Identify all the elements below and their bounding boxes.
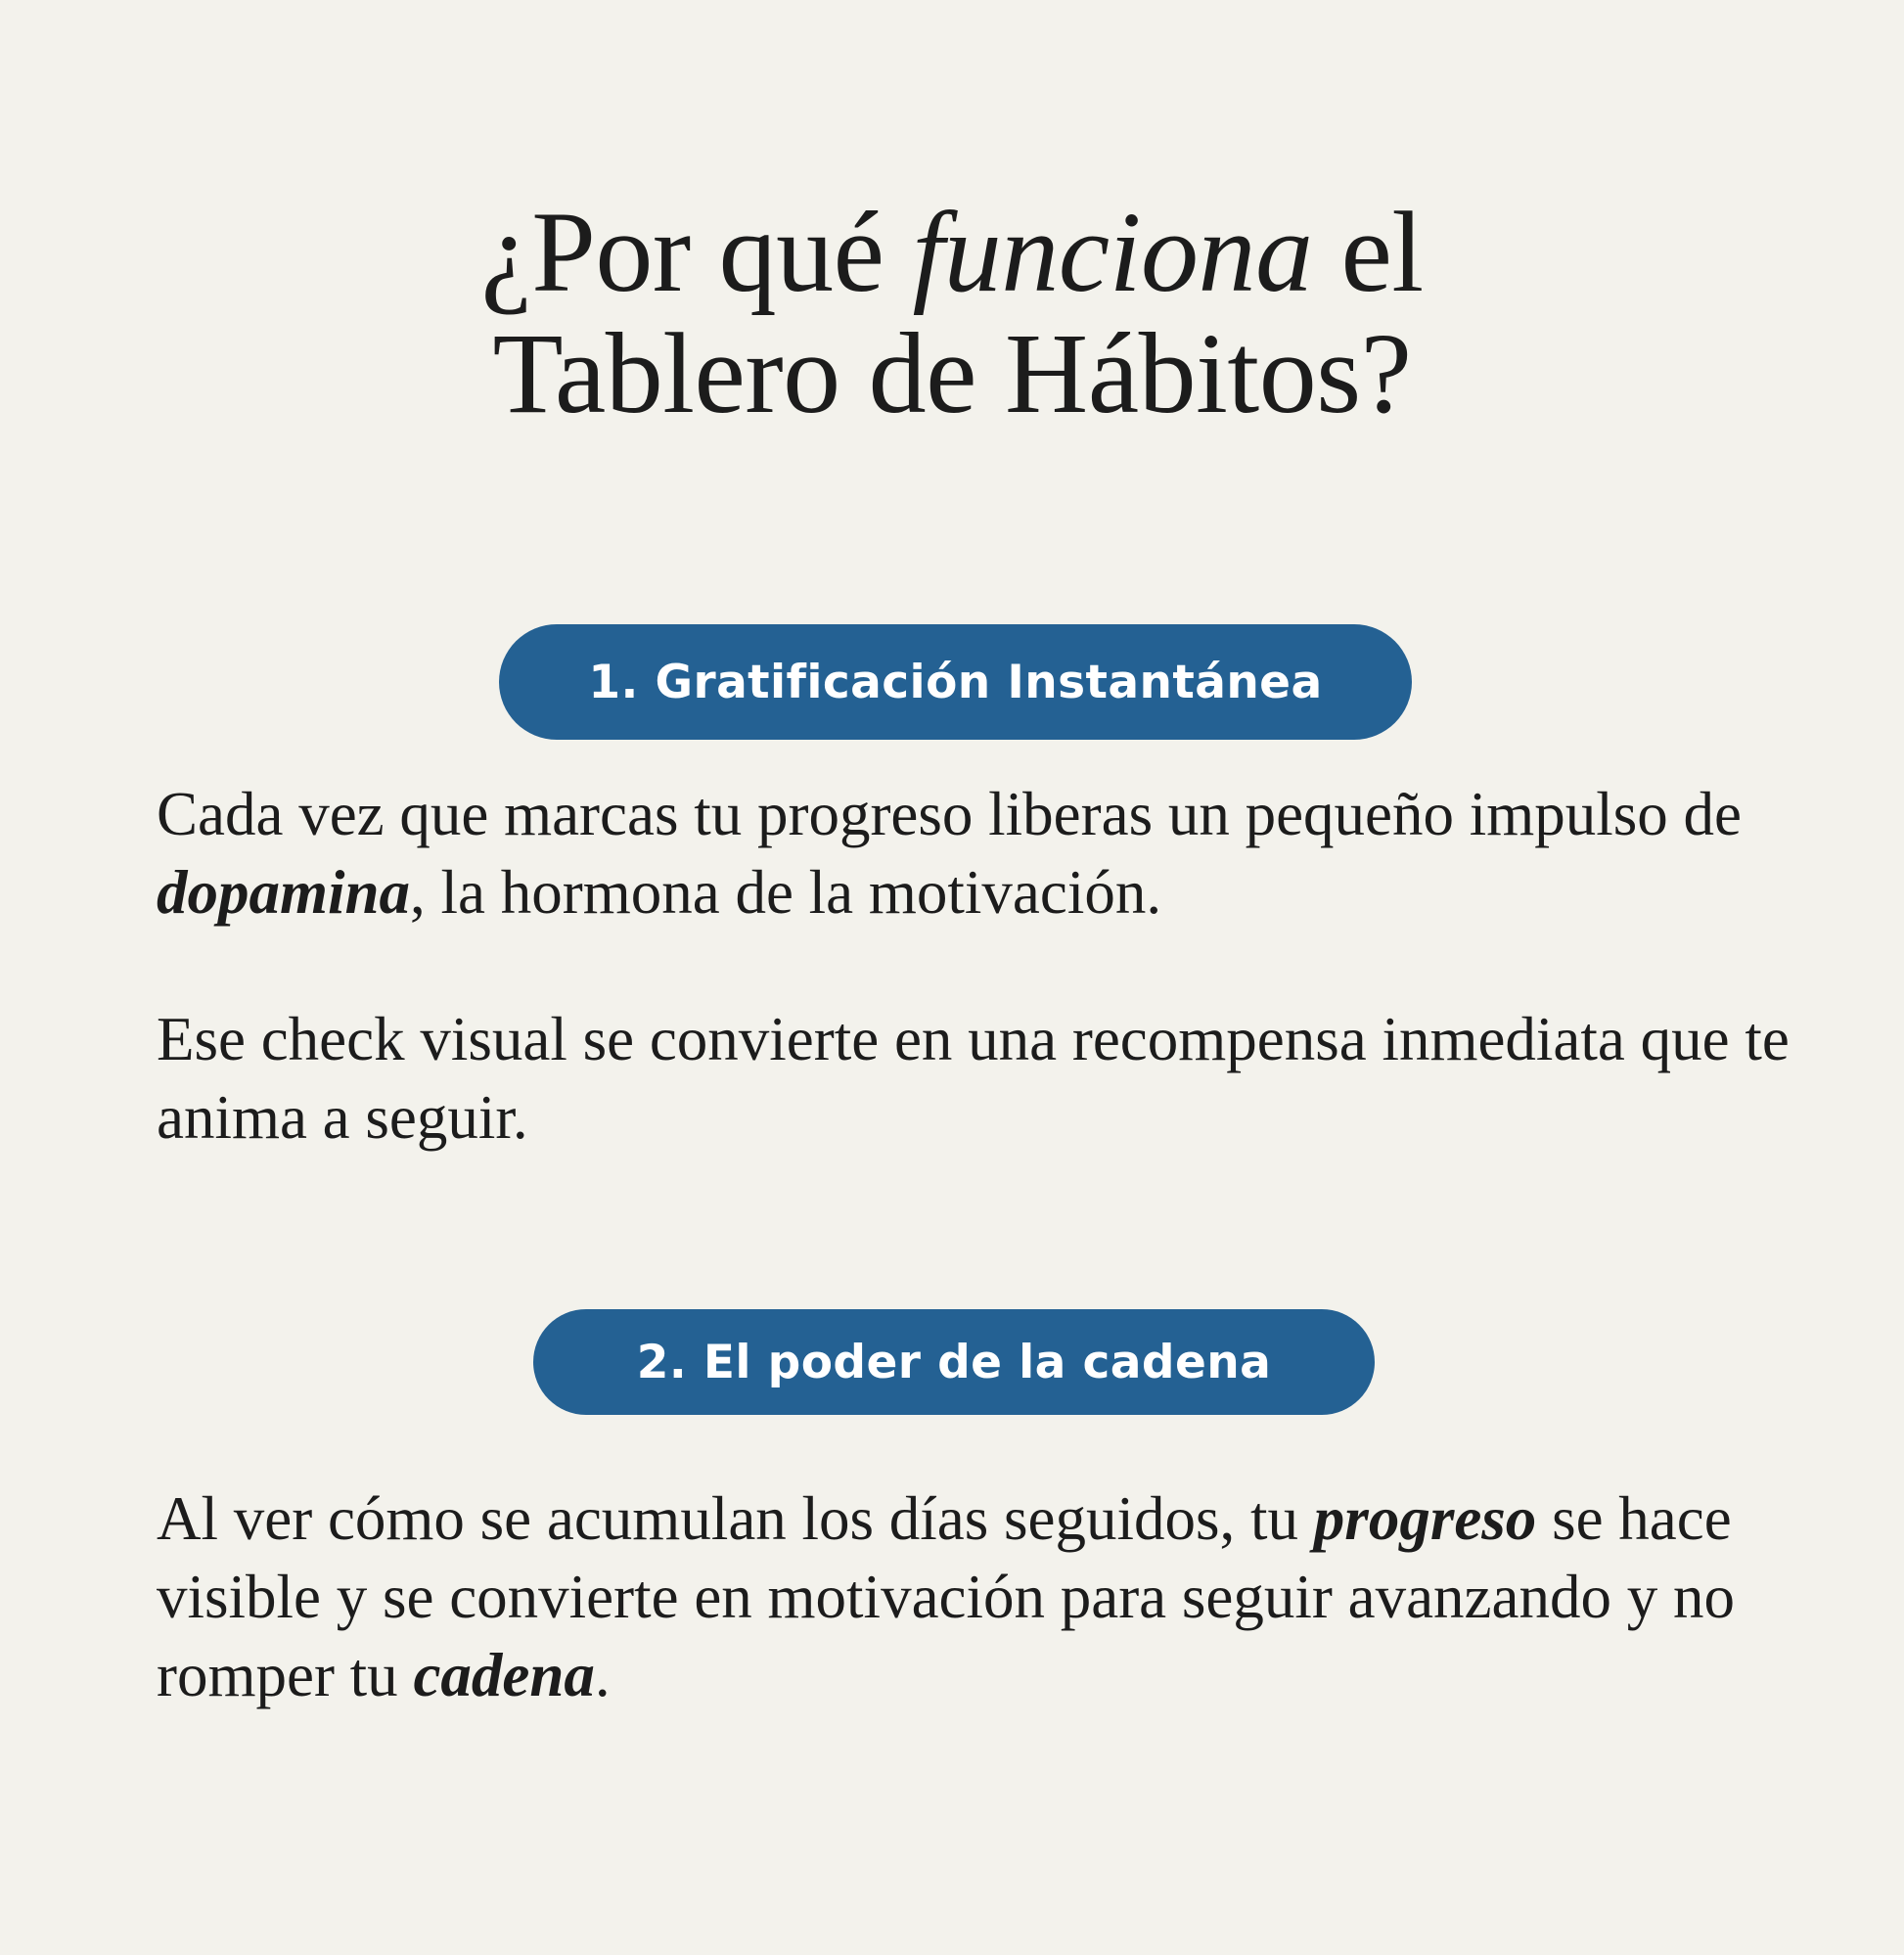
section-2-paragraph-1: Al ver cómo se acumulan los días seguido…: [157, 1479, 1859, 1714]
section-badge-2[interactable]: 2. El poder de la cadena: [533, 1309, 1375, 1415]
title-text-pre: ¿Por qué: [480, 188, 912, 316]
title-emphasis-funciona: funciona: [913, 188, 1313, 316]
title-text-post: el: [1312, 188, 1423, 316]
text-emphasis-cadena: cadena: [413, 1641, 594, 1709]
text-run: Al ver cómo se acumulan los días seguido…: [157, 1484, 1314, 1553]
section-1-paragraph-1: Cada vez que marcas tu progreso liberas …: [157, 775, 1820, 932]
slide-canvas: ¿Por qué funciona el Tablero de Hábitos?…: [0, 0, 1904, 1955]
text-run: , la hormona de la motivación.: [410, 858, 1161, 927]
section-badge-2-label: 2. El poder de la cadena: [637, 1336, 1271, 1389]
text-run: Ese check visual se convierte en una rec…: [157, 1005, 1790, 1152]
section-1-paragraph-2: Ese check visual se convierte en una rec…: [157, 1000, 1820, 1157]
section-badge-1[interactable]: 1. Gratificación Instantánea: [499, 624, 1412, 740]
page-title: ¿Por qué funciona el Tablero de Hábitos?: [0, 192, 1904, 434]
text-emphasis-dopamina: dopamina: [157, 858, 410, 927]
title-line-1: ¿Por qué funciona el: [0, 192, 1904, 313]
title-line-2: Tablero de Hábitos?: [0, 313, 1904, 434]
text-run: Cada vez que marcas tu progreso liberas …: [157, 780, 1742, 848]
section-badge-1-label: 1. Gratificación Instantánea: [588, 656, 1322, 709]
text-run: .: [595, 1641, 611, 1709]
text-emphasis-progreso: progreso: [1314, 1484, 1537, 1553]
